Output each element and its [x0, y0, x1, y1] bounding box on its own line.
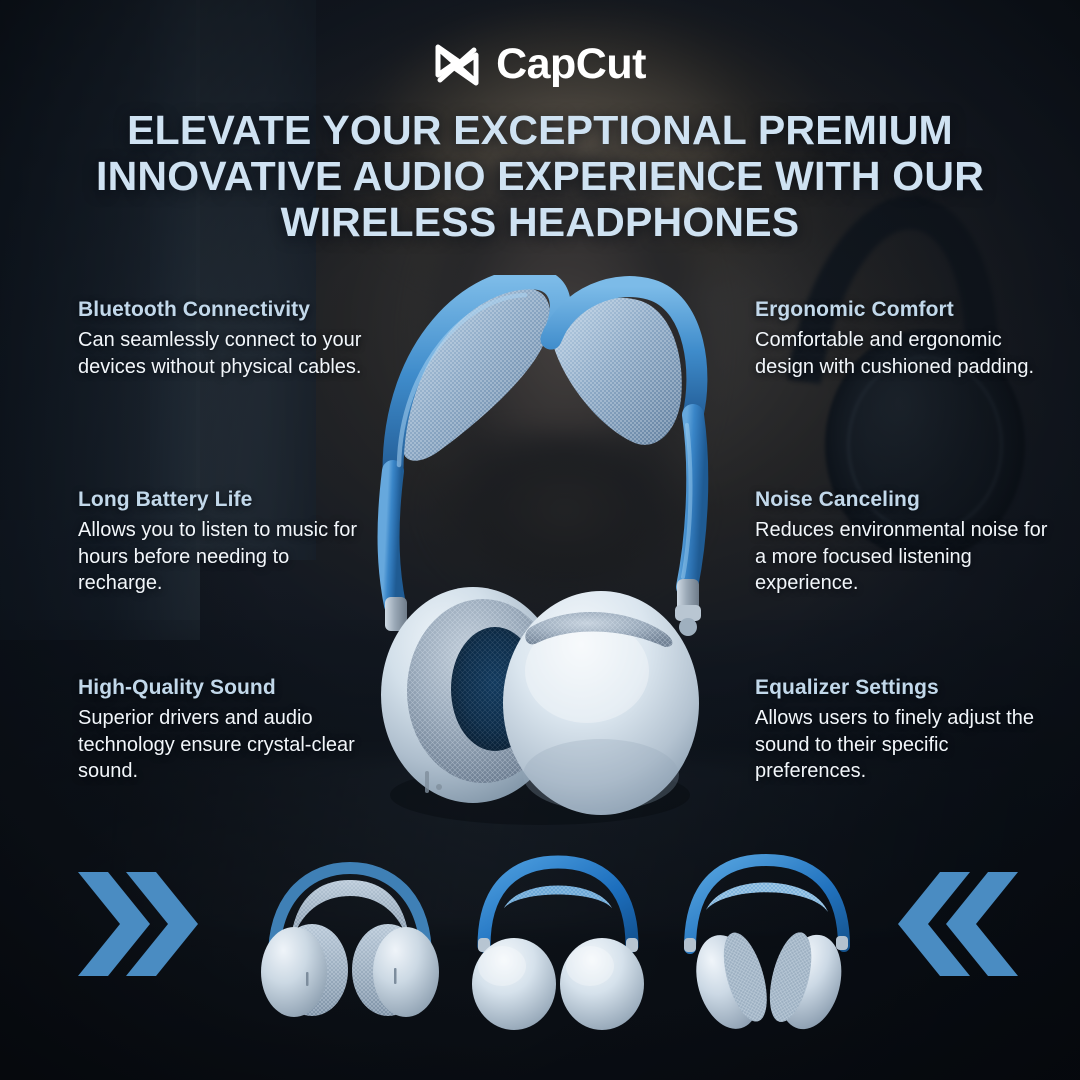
feature-body: Reduces environmental noise for a more f… [755, 517, 1055, 597]
feature-body: Superior drivers and audio technology en… [78, 705, 378, 785]
double-chevron-left-icon [898, 872, 1018, 981]
feature-body: Can seamlessly connect to your devices w… [78, 327, 378, 380]
feature-item-noise-canceling: Noise Canceling Reduces environmental no… [755, 488, 1055, 597]
product-thumbnail-blue-headband-view [458, 850, 658, 1035]
feature-item-equalizer-settings: Equalizer Settings Allows users to finel… [755, 676, 1055, 785]
feature-body: Comfortable and ergonomic design with cu… [755, 327, 1055, 380]
capcut-logo-icon [434, 44, 480, 86]
page-title: ELEVATE YOUR EXCEPTIONAL PREMIUM INNOVAT… [90, 108, 990, 246]
product-thumbnail-front-view [250, 850, 450, 1035]
double-chevron-right-icon [78, 872, 198, 981]
feature-title: Bluetooth Connectivity [78, 298, 378, 322]
brand-header: CapCut [0, 40, 1080, 89]
feature-body: Allows you to listen to music for hours … [78, 517, 378, 597]
poster-canvas: CapCut ELEVATE YOUR EXCEPTIONAL PREMIUM … [0, 0, 1080, 1080]
feature-item-high-quality-sound: High-Quality Sound Superior drivers and … [78, 676, 378, 785]
feature-title: Long Battery Life [78, 488, 378, 512]
feature-title: Noise Canceling [755, 488, 1055, 512]
feature-item-ergonomic-comfort: Ergonomic Comfort Comfortable and ergono… [755, 298, 1055, 380]
product-thumbnail-strip [240, 850, 880, 1035]
feature-title: Ergonomic Comfort [755, 298, 1055, 322]
feature-title: High-Quality Sound [78, 676, 378, 700]
feature-title: Equalizer Settings [755, 676, 1055, 700]
feature-item-bluetooth-connectivity: Bluetooth Connectivity Can seamlessly co… [78, 298, 378, 380]
brand-name: CapCut [496, 40, 646, 89]
feature-body: Allows users to finely adjust the sound … [755, 705, 1055, 785]
product-thumbnail-angled-view [668, 850, 868, 1035]
feature-item-long-battery-life: Long Battery Life Allows you to listen t… [78, 488, 378, 597]
